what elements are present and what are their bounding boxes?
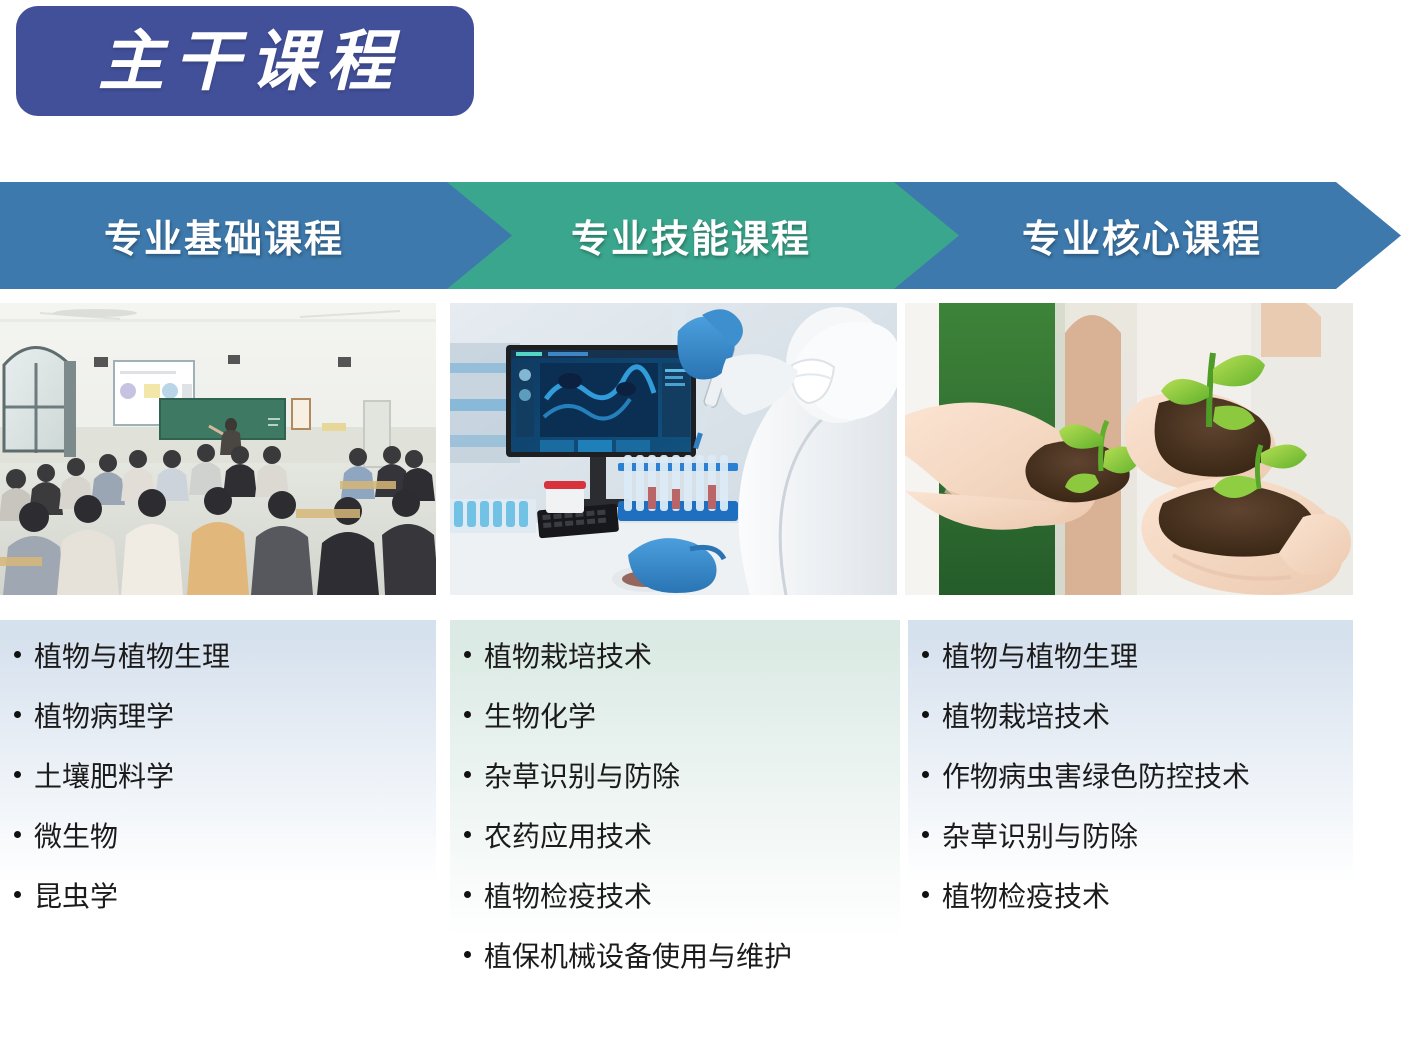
bullet-icon bbox=[464, 891, 471, 898]
list-item: 植保机械设备使用与维护 bbox=[450, 944, 900, 972]
list-item: 杂草识别与防除 bbox=[908, 824, 1353, 852]
course-name: 植保机械设备使用与维护 bbox=[484, 944, 792, 972]
course-name: 植物与植物生理 bbox=[34, 644, 230, 672]
classroom-lecture-illustration bbox=[0, 303, 436, 595]
course-panel-core: 植物与植物生理 植物栽培技术 作物病虫害绿色防控技术 杂草识别与防除 植物检疫技… bbox=[908, 620, 1353, 920]
list-item: 植物病理学 bbox=[0, 704, 436, 732]
bullet-icon bbox=[14, 651, 21, 658]
course-name: 植物与植物生理 bbox=[942, 644, 1138, 672]
list-item: 杂草识别与防除 bbox=[450, 764, 900, 792]
banner-core-courses-label: 专业核心课程 bbox=[1022, 208, 1262, 263]
list-item: 土壤肥料学 bbox=[0, 764, 436, 792]
list-item: 植物与植物生理 bbox=[0, 644, 436, 672]
bullet-icon bbox=[464, 711, 471, 718]
course-list-basic: 植物与植物生理 植物病理学 土壤肥料学 微生物 昆虫学 bbox=[0, 644, 436, 912]
bullet-icon bbox=[464, 951, 471, 958]
course-panel-basic: 植物与植物生理 植物病理学 土壤肥料学 微生物 昆虫学 bbox=[0, 620, 436, 920]
bullet-icon bbox=[922, 711, 929, 718]
bullet-icon bbox=[464, 771, 471, 778]
course-name: 农药应用技术 bbox=[484, 824, 652, 852]
course-name: 生物化学 bbox=[484, 704, 596, 732]
page-title-badge: 主干课程 bbox=[16, 6, 474, 116]
course-list-core: 植物与植物生理 植物栽培技术 作物病虫害绿色防控技术 杂草识别与防除 植物检疫技… bbox=[908, 644, 1353, 912]
banner-basic-courses[interactable]: 专业基础课程 bbox=[0, 182, 520, 289]
bullet-icon bbox=[464, 651, 471, 658]
course-name: 土壤肥料学 bbox=[34, 764, 174, 792]
bullet-icon bbox=[922, 651, 929, 658]
laboratory-research-illustration bbox=[450, 303, 897, 595]
course-name: 植物检疫技术 bbox=[942, 884, 1110, 912]
list-item: 昆虫学 bbox=[0, 884, 436, 912]
list-item: 作物病虫害绿色防控技术 bbox=[908, 764, 1353, 792]
course-name: 植物病理学 bbox=[34, 704, 174, 732]
course-name: 植物栽培技术 bbox=[942, 704, 1110, 732]
bullet-icon bbox=[922, 831, 929, 838]
bullet-icon bbox=[922, 771, 929, 778]
list-item: 植物检疫技术 bbox=[908, 884, 1353, 912]
banner-core-courses[interactable]: 专业核心课程 bbox=[894, 182, 1401, 289]
list-item: 微生物 bbox=[0, 824, 436, 852]
course-name: 杂草识别与防除 bbox=[942, 824, 1138, 852]
course-name: 植物栽培技术 bbox=[484, 644, 652, 672]
list-item: 植物栽培技术 bbox=[450, 644, 900, 672]
list-item: 生物化学 bbox=[450, 704, 900, 732]
bullet-icon bbox=[14, 831, 21, 838]
banner-skill-courses[interactable]: 专业技能课程 bbox=[447, 182, 967, 289]
bullet-icon bbox=[922, 891, 929, 898]
page-title: 主干课程 bbox=[88, 28, 402, 94]
course-name: 微生物 bbox=[34, 824, 118, 852]
banner-skill-courses-label: 专业技能课程 bbox=[571, 208, 811, 263]
course-panel-skill: 植物栽培技术 生物化学 杂草识别与防除 农药应用技术 植物检疫技术 植保机械设备… bbox=[450, 620, 900, 980]
laboratory-research-photo bbox=[450, 303, 897, 595]
seedlings-in-hands-illustration bbox=[905, 303, 1353, 595]
bullet-icon bbox=[464, 831, 471, 838]
classroom-lecture-photo bbox=[0, 303, 436, 595]
course-category-banner-row: 专业基础课程 专业技能课程 专业核心课程 bbox=[0, 182, 1401, 289]
list-item: 植物检疫技术 bbox=[450, 884, 900, 912]
bullet-icon bbox=[14, 711, 21, 718]
bullet-icon bbox=[14, 771, 21, 778]
course-name: 植物检疫技术 bbox=[484, 884, 652, 912]
course-list-skill: 植物栽培技术 生物化学 杂草识别与防除 农药应用技术 植物检疫技术 植保机械设备… bbox=[450, 644, 900, 972]
list-item: 植物栽培技术 bbox=[908, 704, 1353, 732]
list-item: 农药应用技术 bbox=[450, 824, 900, 852]
seedlings-in-hands-photo bbox=[905, 303, 1353, 595]
course-name: 杂草识别与防除 bbox=[484, 764, 680, 792]
banner-basic-courses-label: 专业基础课程 bbox=[104, 208, 344, 263]
bullet-icon bbox=[14, 891, 21, 898]
course-name: 作物病虫害绿色防控技术 bbox=[942, 764, 1250, 792]
course-name: 昆虫学 bbox=[34, 884, 118, 912]
list-item: 植物与植物生理 bbox=[908, 644, 1353, 672]
